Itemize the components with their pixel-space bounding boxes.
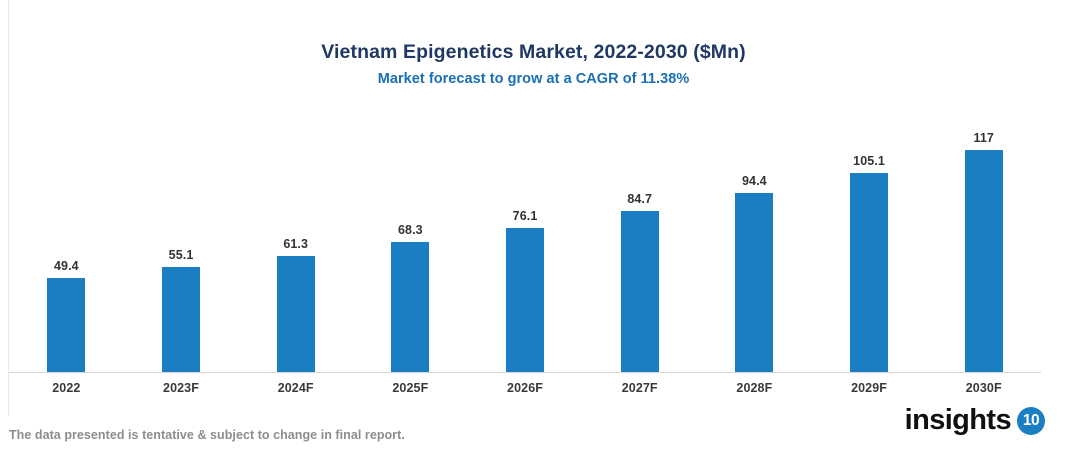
- chart-subtitle: Market forecast to grow at a CAGR of 11.…: [0, 71, 1067, 87]
- x-axis-tick-label: 2027F: [622, 381, 658, 395]
- x-axis-tick: 2030F: [926, 379, 1041, 397]
- x-axis-tick: 2024F: [238, 379, 353, 397]
- x-axis-tick-label: 2025F: [392, 381, 428, 395]
- chart-header: Vietnam Epigenetics Market, 2022-2030 ($…: [0, 40, 1067, 87]
- x-axis-tick-label: 2029F: [851, 381, 887, 395]
- bar-rect[interactable]: [735, 193, 773, 372]
- x-axis-tick-label: 2028F: [736, 381, 772, 395]
- insights10-logo: insights 10: [905, 406, 1045, 435]
- bar-value-label: 94.4: [742, 174, 767, 188]
- bar-value-label: 76.1: [513, 209, 538, 223]
- x-axis-tick: 2029F: [812, 379, 927, 397]
- bar-rect[interactable]: [506, 228, 544, 373]
- chart-title: Vietnam Epigenetics Market, 2022-2030 ($…: [0, 40, 1067, 64]
- x-axis-tick-label: 2024F: [278, 381, 314, 395]
- x-axis-tick: 2025F: [353, 379, 468, 397]
- bar-value-label: 49.4: [54, 259, 79, 273]
- bar-rect[interactable]: [621, 211, 659, 372]
- bar-group: 55.1: [124, 118, 239, 372]
- bar-rect[interactable]: [162, 267, 200, 372]
- bar-rect[interactable]: [965, 150, 1003, 372]
- bar-group: 84.7: [582, 118, 697, 372]
- disclaimer-text: The data presented is tentative & subjec…: [9, 428, 405, 442]
- bar-group: 94.4: [697, 118, 812, 372]
- bar-rect[interactable]: [47, 278, 85, 372]
- x-axis-categories: 2022 2023F 2024F 2025F 2026F 2027F 2028F…: [9, 379, 1041, 397]
- x-axis-tick-label: 2023F: [163, 381, 199, 395]
- logo-wordmark: insights: [905, 406, 1011, 435]
- bar-rect[interactable]: [850, 173, 888, 373]
- x-axis-tick: 2026F: [468, 379, 583, 397]
- x-axis-tick-label: 2022: [52, 381, 80, 395]
- x-axis-tick-label: 2026F: [507, 381, 543, 395]
- bar-series: 49.4 55.1 61.3 68.3 76.1 84.7 94.4 105.: [9, 118, 1041, 372]
- bar-group: 49.4: [9, 118, 124, 372]
- bar-rect[interactable]: [391, 242, 429, 372]
- bar-group: 117: [926, 118, 1041, 372]
- x-axis-tick: 2023F: [124, 379, 239, 397]
- x-axis-tick-label: 2030F: [966, 381, 1002, 395]
- chart-page: Vietnam Epigenetics Market, 2022-2030 ($…: [0, 0, 1067, 454]
- bar-group: 105.1: [812, 118, 927, 372]
- bar-group: 76.1: [468, 118, 583, 372]
- bar-group: 68.3: [353, 118, 468, 372]
- logo-badge-icon: 10: [1017, 407, 1045, 435]
- bar-value-label: 84.7: [627, 192, 652, 206]
- bar-value-label: 55.1: [169, 248, 194, 262]
- bar-value-label: 61.3: [283, 237, 308, 251]
- bar-rect[interactable]: [277, 256, 315, 372]
- x-axis-tick: 2027F: [582, 379, 697, 397]
- x-axis-tick: 2022: [9, 379, 124, 397]
- bar-group: 61.3: [238, 118, 353, 372]
- bar-value-label: 68.3: [398, 223, 423, 237]
- x-axis-tick: 2028F: [697, 379, 812, 397]
- bar-value-label: 105.1: [853, 154, 885, 168]
- bar-value-label: 117: [973, 131, 993, 145]
- x-axis-line: [9, 372, 1041, 373]
